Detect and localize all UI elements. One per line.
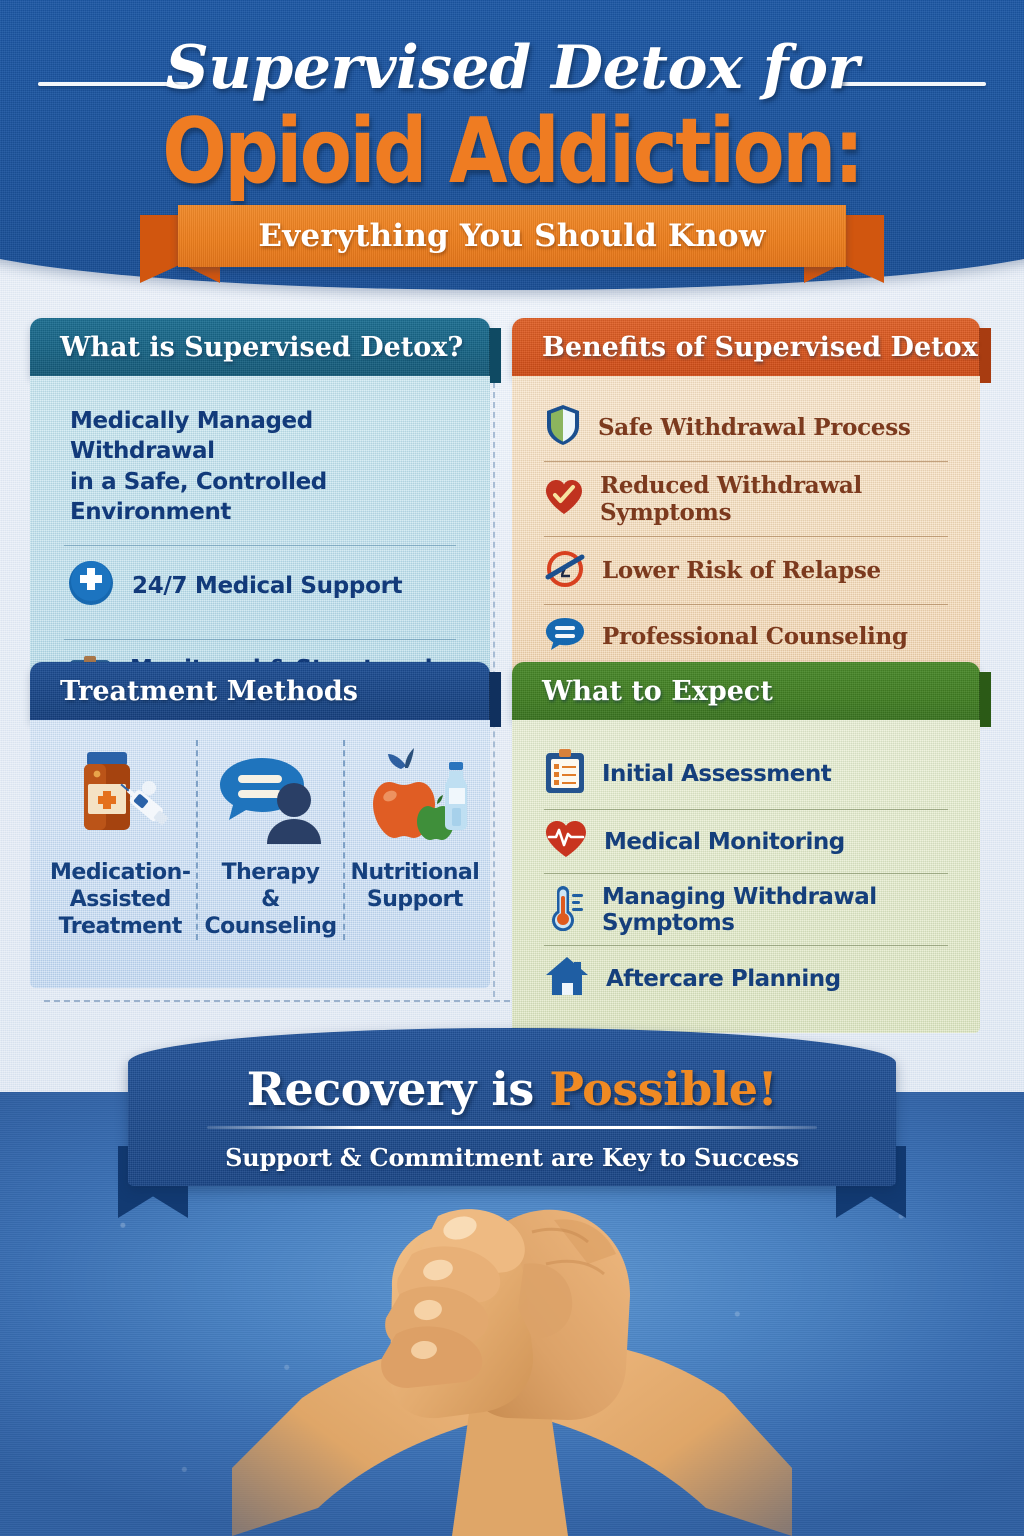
ribbon-subtitle-text: Everything You Should Know <box>178 205 846 267</box>
list-item-label: Medication- Assisted Treatment <box>50 860 190 940</box>
method-label-line3: Treatment <box>50 914 190 941</box>
card-expect-title: What to Expect <box>512 676 773 707</box>
clipboard-list-icon <box>544 747 586 800</box>
list-item-label: Lower Risk of Relapse <box>602 557 881 584</box>
method-label-line1: Therapy <box>204 860 336 887</box>
list-item: Managing Withdrawal Symptoms <box>538 874 954 945</box>
list-item-label: Reduced Withdrawal Symptoms <box>600 472 954 526</box>
card-what-title: What is Supervised Detox? <box>30 332 463 363</box>
shield-icon <box>544 404 582 451</box>
method-label-line2: & Counseling <box>204 887 336 941</box>
list-item-label: Medical Monitoring <box>604 829 845 855</box>
list-item-label: Safe Withdrawal Process <box>598 414 911 441</box>
method-label-line1: Nutritional <box>351 860 480 887</box>
speech-bubble-person-icon <box>212 740 330 848</box>
method-label-line2: Assisted <box>50 887 190 914</box>
thermometer-icon <box>544 883 586 936</box>
card-what-lede-line2: in a Safe, Controlled Environment <box>70 467 464 528</box>
list-item: Aftercare Planning <box>538 946 954 1011</box>
list-item: Professional Counseling <box>538 605 954 668</box>
card-treatment-header-band: Treatment Methods <box>30 662 490 720</box>
cta-divider-rule <box>207 1126 817 1129</box>
card-what-lede-line1: Medically Managed Withdrawal <box>70 406 464 467</box>
treatment-methods-grid: Medication- Assisted Treatment <box>44 740 476 940</box>
list-item: Nutritional Support <box>343 740 486 940</box>
medical-cross-icon <box>68 560 114 611</box>
list-item: Initial Assessment <box>538 738 954 809</box>
list-item-label: Managing Withdrawal Symptoms <box>602 884 954 936</box>
cta-subtext: Support & Commitment are Key to Success <box>128 1143 896 1172</box>
page-title-line1: Supervised Detox for <box>0 38 1024 98</box>
card-benefits-body: Safe Withdrawal Process Reduced Withdraw… <box>512 376 980 690</box>
card-expect-band-fold <box>979 672 991 727</box>
list-item: Medical Monitoring <box>538 810 954 873</box>
list-item: Reduced Withdrawal Symptoms <box>538 462 954 536</box>
card-benefits-title: Benefits of Supervised Detox <box>512 332 978 363</box>
house-icon <box>544 955 590 1002</box>
footer-banner: Recovery is Possible! Support & Commitme… <box>0 1028 1024 1213</box>
list-item-label: Nutritional Support <box>351 860 480 914</box>
card-what-lede: Medically Managed Withdrawal in a Safe, … <box>70 406 464 527</box>
card-expect-body: Initial Assessment Medical Monitoring <box>512 720 980 1033</box>
list-item-label: Aftercare Planning <box>606 966 841 992</box>
list-item: Medication- Assisted Treatment <box>44 740 196 940</box>
card-treatment-band-fold <box>489 672 501 727</box>
method-label-line2: Support <box>351 887 480 914</box>
infographic-poster: Supervised Detox for Opioid Addiction: E… <box>0 0 1024 1536</box>
speech-bubble-icon <box>544 615 586 658</box>
heart-pulse-icon <box>544 819 588 864</box>
card-what-header-band: What is Supervised Detox? <box>30 318 490 376</box>
apple-water-bottle-icon <box>357 740 473 848</box>
cta-headline-part1: Recovery is <box>247 1062 550 1116</box>
no-entry-icon <box>544 547 586 594</box>
list-item-label: Therapy & Counseling <box>204 860 336 940</box>
cta-headline-highlight: Possible! <box>549 1062 777 1116</box>
card-what-band-fold <box>489 328 501 383</box>
list-item: Safe Withdrawal Process <box>538 394 954 461</box>
page-title-line2: Opioid Addiction: <box>0 104 1024 198</box>
cta-headline: Recovery is Possible! <box>128 1066 896 1112</box>
list-item-label: Professional Counseling <box>602 623 908 650</box>
list-item: Therapy & Counseling <box>196 740 342 940</box>
method-label-line1: Medication- <box>50 860 190 887</box>
clasped-hands-illustration <box>232 1168 792 1536</box>
card-treatment-methods: Treatment Methods <box>30 662 490 988</box>
pill-bottle-syringe-icon <box>65 740 175 848</box>
subtitle-ribbon: Everything You Should Know <box>0 205 1024 295</box>
card-benefits-band-fold <box>979 328 991 383</box>
list-item-label: Initial Assessment <box>602 761 831 787</box>
list-item: 24/7 Medical Support <box>56 546 464 621</box>
card-what-to-expect: What to Expect In <box>512 662 980 1033</box>
card-treatment-title: Treatment Methods <box>30 676 358 707</box>
list-item: Lower Risk of Relapse <box>538 537 954 604</box>
card-treatment-body: Medication- Assisted Treatment <box>30 720 490 988</box>
banner-content: Recovery is Possible! Support & Commitme… <box>128 1028 896 1186</box>
card-benefits: Benefits of Supervised Detox Safe Withdr… <box>512 318 980 690</box>
card-expect-header-band: What to Expect <box>512 662 980 720</box>
card-benefits-header-band: Benefits of Supervised Detox <box>512 318 980 376</box>
heart-check-icon <box>544 478 584 521</box>
list-item-label: 24/7 Medical Support <box>132 573 402 599</box>
